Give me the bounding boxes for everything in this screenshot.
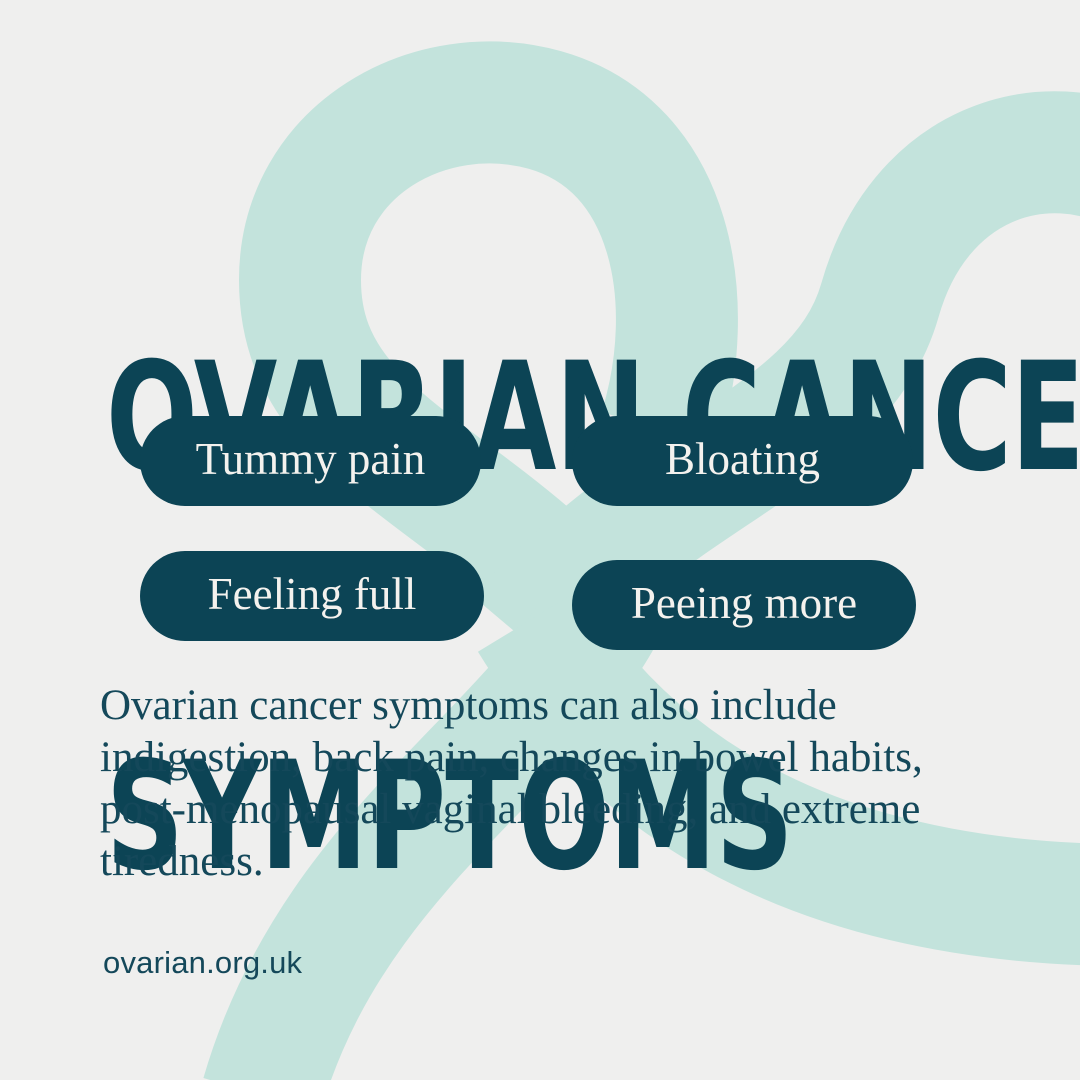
website-url[interactable]: ovarian.org.uk [103,947,302,978]
symptom-pill-feeling-full: Feeling full [140,551,484,641]
symptom-pill-label: Bloating [665,437,820,482]
body-paragraph-line-2: indigestion, back pain, changes in bowel… [100,732,1000,784]
poster-canvas: OVARIAN CANCER SYMPTOMS Tummy pain Bloat… [0,0,1080,1080]
symptom-pill-label: Tummy pain [196,437,426,482]
body-paragraph: Ovarian cancer symptoms can also include… [100,680,1000,888]
symptom-pill-peeing-more: Peeing more [572,560,916,650]
symptom-pill-tummy-pain: Tummy pain [140,416,481,506]
symptom-pill-label: Peeing more [631,581,857,626]
poster-content: OVARIAN CANCER SYMPTOMS Tummy pain Bloat… [0,0,1080,1080]
body-paragraph-line-1: Ovarian cancer symptoms can also include [100,680,1000,732]
symptom-pill-label: Feeling full [208,572,417,617]
body-paragraph-line-3: post-menopausal vaginal bleeding, and ex… [100,784,1000,836]
symptom-pill-grid: Tummy pain Bloating Feeling full Peeing … [0,0,1080,1080]
body-paragraph-line-4: tiredness. [100,836,1000,888]
symptom-pill-bloating: Bloating [572,416,913,506]
